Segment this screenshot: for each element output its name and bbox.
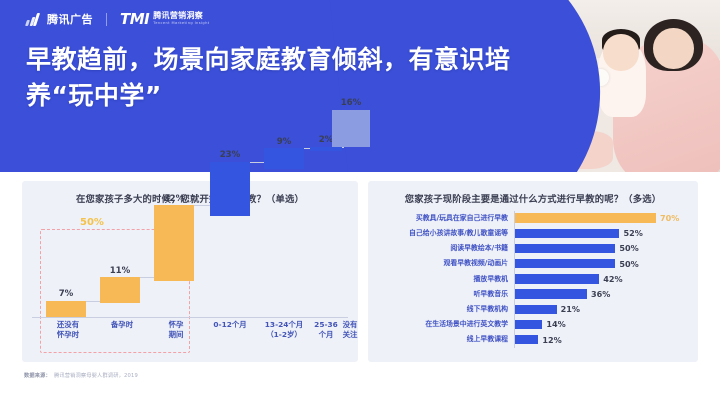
bar-row: 观看早教视频/动画片50%: [376, 257, 690, 272]
brand-name: 腾讯广告: [47, 11, 93, 27]
bar-track: 50%: [514, 257, 690, 272]
bar-value-label: 52%: [623, 228, 642, 238]
bar-rect: [514, 289, 587, 298]
chart-card-left: 在您家孩子多大的时候，您就开始关注早教？（单选） 50% 7%11%32%23%…: [22, 181, 358, 362]
waterfall-category-label: 怀孕期间: [150, 320, 202, 340]
tmi-name-cn: 腾讯营销洞察: [153, 12, 209, 20]
bar-row: 阅读早教绘本/书籍50%: [376, 241, 690, 256]
waterfall-value-label: 9%: [264, 137, 304, 147]
waterfall-connector: [140, 277, 154, 278]
bar-category-label: 播放早教机: [376, 276, 514, 284]
waterfall-value-label: 7%: [46, 289, 86, 299]
bar-rect: [514, 244, 615, 253]
tencent-ads-logo-icon: [26, 13, 38, 26]
waterfall-bar-rect: [310, 147, 342, 152]
brand-logo-row: 腾讯广告 TMI 腾讯营销洞察 Tencent Marketing Insigh…: [26, 10, 210, 28]
waterfall-value-label: 11%: [100, 266, 140, 276]
bar-value-label: 12%: [542, 335, 561, 345]
waterfall-category-label: 0-12个月: [204, 320, 256, 330]
bar-rect: [514, 259, 615, 268]
bar-category-label: 线上早教课程: [376, 336, 514, 344]
footnote-text: 腾讯营销洞察母婴人群调研，2019: [54, 373, 138, 379]
waterfall-bar-rect: [46, 301, 86, 317]
bar-track: 50%: [514, 241, 690, 256]
chart-right-title: 您家孩子现阶段主要是通过什么方式进行早教的呢？（多选）: [368, 191, 698, 205]
bar-value-label: 50%: [619, 243, 638, 253]
waterfall-chart: 50% 7%11%32%23%9%2%16% 还没有怀孕时备孕时怀孕期间0-12…: [32, 213, 348, 353]
waterfall-connector: [342, 147, 344, 148]
waterfall-bar-rect: [100, 277, 140, 303]
bar-category-label: 观看早教视频/动画片: [376, 260, 514, 268]
waterfall-connector: [194, 205, 210, 206]
bar-category-label: 在生活场景中进行英文教学: [376, 321, 514, 329]
bar-rect: [514, 229, 619, 238]
chart-card-right: 您家孩子现阶段主要是通过什么方式进行早教的呢？（多选） 买教具/玩具在家自己进行…: [368, 181, 698, 362]
tmi-logo: TMI 腾讯营销洞察 Tencent Marketing Insight: [120, 10, 210, 28]
bar-category-label: 线下早教机构: [376, 306, 514, 314]
bar-rect: [514, 305, 557, 314]
slide-root: 腾讯广告 TMI 腾讯营销洞察 Tencent Marketing Insigh…: [0, 0, 720, 405]
bar-track: 14%: [514, 317, 690, 332]
bar-value-label: 21%: [561, 304, 580, 314]
bar-track: 42%: [514, 272, 690, 287]
charts-area: 在您家孩子多大的时候，您就开始关注早教？（单选） 50% 7%11%32%23%…: [0, 172, 720, 405]
bar-rect: [514, 274, 599, 283]
bar-value-label: 36%: [591, 289, 610, 299]
waterfall-category-label: 备孕时: [96, 320, 148, 330]
waterfall-value-label: 23%: [210, 150, 250, 160]
bar-row: 自己给小孩讲故事/教儿歌童谣等52%: [376, 226, 690, 241]
bar-category-label: 买教具/玩具在家自己进行早教: [376, 215, 514, 223]
horizontal-bar-chart: 买教具/玩具在家自己进行早教70%自己给小孩讲故事/教儿歌童谣等52%阅读早教绘…: [376, 211, 690, 348]
bar-value-label: 70%: [660, 213, 679, 223]
bar-row: 线上早教课程12%: [376, 333, 690, 348]
waterfall-bar-rect: [264, 148, 304, 169]
data-source-footnote: 数据来源：腾讯营销洞察母婴人群调研，2019: [24, 372, 138, 379]
waterfall-plot: 7%11%32%23%9%2%16%: [32, 213, 348, 317]
tmi-wordmark: TMI: [120, 10, 149, 28]
tmi-name-en: Tencent Marketing Insight: [153, 22, 209, 26]
bar-value-label: 14%: [546, 319, 565, 329]
bar-rect: [514, 320, 542, 329]
bar-category-label: 阅读早教绘本/书籍: [376, 245, 514, 253]
bar-track: 70%: [514, 211, 690, 226]
bar-chart-baseline: [514, 211, 515, 348]
bar-track: 36%: [514, 287, 690, 302]
waterfall-bar-rect: [332, 110, 370, 148]
waterfall-category-label: 还没有怀孕时: [42, 320, 94, 340]
bar-track: 12%: [514, 333, 690, 348]
footnote-prefix: 数据来源：: [24, 373, 51, 379]
page-title: 早教趋前，场景向家庭教育倾斜，有意识培养“玩中学”: [26, 42, 566, 113]
waterfall-axis: [32, 317, 348, 318]
bar-value-label: 50%: [619, 259, 638, 269]
bar-row: 线下早教机构21%: [376, 302, 690, 317]
waterfall-connector: [250, 162, 264, 163]
bar-row: 听早教音乐36%: [376, 287, 690, 302]
bar-row: 在生活场景中进行英文教学14%: [376, 317, 690, 332]
bar-rect: [514, 213, 656, 222]
bar-category-label: 听早教音乐: [376, 291, 514, 299]
bar-row: 播放早教机42%: [376, 272, 690, 287]
bar-category-label: 自己给小孩讲故事/教儿歌童谣等: [376, 230, 514, 238]
logo-divider: [106, 13, 107, 26]
waterfall-connector: [86, 301, 100, 302]
bar-rect: [514, 335, 538, 344]
waterfall-connector: [304, 148, 310, 149]
waterfall-bar-rect: [210, 162, 250, 216]
bar-value-label: 42%: [603, 274, 622, 284]
bar-track: 21%: [514, 302, 690, 317]
waterfall-value-label: 32%: [154, 194, 194, 204]
waterfall-category-labels: 还没有怀孕时备孕时怀孕期间0-12个月13-24个月（1-2岁）25-36个月没…: [32, 320, 348, 350]
bar-track: 52%: [514, 226, 690, 241]
waterfall-bar-rect: [154, 205, 194, 280]
bar-row: 买教具/玩具在家自己进行早教70%: [376, 211, 690, 226]
